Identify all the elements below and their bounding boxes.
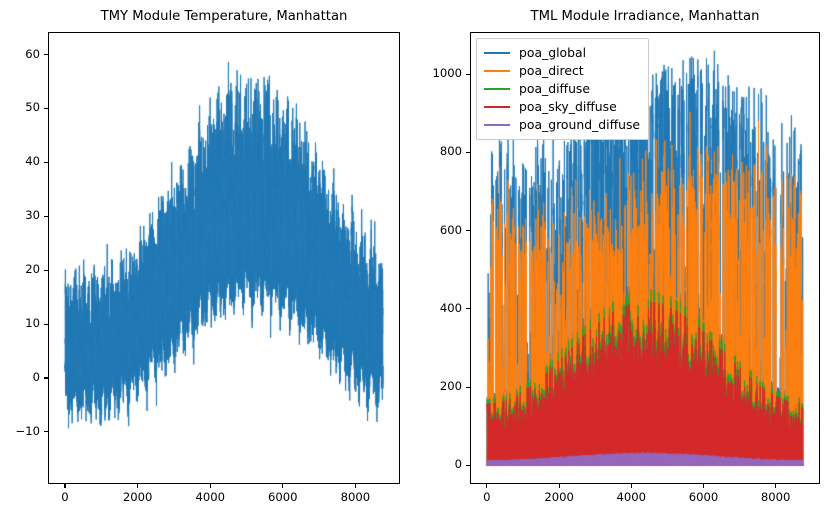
legend-label-poa-global: poa_global — [519, 44, 586, 62]
temperature-ytick-mark — [44, 216, 48, 217]
temperature-ytick-label: −10 — [0, 424, 40, 438]
irradiance-ytick-mark — [466, 308, 470, 309]
irradiance-ytick-mark — [466, 230, 470, 231]
legend-label-poa-ground-diffuse: poa_ground_diffuse — [519, 116, 640, 134]
temperature-ytick-label: 40 — [0, 154, 40, 168]
legend-swatch-poa-sky-diffuse — [484, 106, 510, 108]
legend-swatch-poa-diffuse — [484, 88, 510, 90]
irradiance-xtick-label: 8000 — [746, 490, 806, 504]
temperature-ytick-mark — [44, 377, 48, 378]
legend-label-poa-diffuse: poa_diffuse — [519, 80, 590, 98]
irradiance-ytick-label: 200 — [418, 379, 462, 393]
temperature-plot-area — [49, 33, 399, 483]
temperature-ytick-label: 20 — [0, 262, 40, 276]
irradiance-xtick-mark — [559, 484, 560, 488]
irradiance-xtick-mark — [486, 484, 487, 488]
temperature-ytick-mark — [44, 162, 48, 163]
temperature-xtick-mark — [137, 484, 138, 488]
temperature-ytick-mark — [44, 108, 48, 109]
irradiance-xtick-label: 0 — [457, 490, 517, 504]
legend-swatch-poa-direct — [484, 70, 510, 72]
temperature-ytick-mark — [44, 54, 48, 55]
legend-swatch-poa-ground-diffuse — [484, 124, 510, 126]
right-plot-title: TML Module Irradiance, Manhattan — [470, 9, 820, 24]
irradiance-legend[interactable]: poa_global poa_direct poa_diffuse poa_sk… — [476, 38, 649, 140]
temperature-ytick-mark — [44, 270, 48, 271]
temperature-ytick-label: 30 — [0, 208, 40, 222]
temperature-xtick-mark — [355, 484, 356, 488]
temperature-xtick-label: 6000 — [253, 490, 313, 504]
temperature-xtick-mark — [210, 484, 211, 488]
legend-label-poa-direct: poa_direct — [519, 62, 584, 80]
irradiance-ytick-mark — [466, 387, 470, 388]
temperature-ytick-label: 60 — [0, 47, 40, 61]
irradiance-ytick-label: 400 — [418, 301, 462, 315]
irradiance-ytick-mark — [466, 74, 470, 75]
irradiance-xtick-mark — [775, 484, 776, 488]
legend-item-poa-global[interactable]: poa_global — [484, 44, 640, 62]
irradiance-xtick-mark — [703, 484, 704, 488]
matplotlib-figure: TMY Module Temperature, Manhattan TML Mo… — [0, 0, 833, 528]
temperature-ytick-label: 50 — [0, 100, 40, 114]
temperature-axes — [48, 32, 400, 484]
left-plot-title: TMY Module Temperature, Manhattan — [48, 9, 400, 24]
irradiance-xtick-label: 2000 — [529, 490, 589, 504]
legend-item-poa-sky-diffuse[interactable]: poa_sky_diffuse — [484, 98, 640, 116]
temperature-xtick-label: 0 — [35, 490, 95, 504]
irradiance-ytick-label: 1000 — [418, 66, 462, 80]
legend-item-poa-ground-diffuse[interactable]: poa_ground_diffuse — [484, 116, 640, 134]
legend-swatch-poa-global — [484, 52, 510, 54]
irradiance-ytick-label: 600 — [418, 223, 462, 237]
temperature-xtick-label: 4000 — [180, 490, 240, 504]
temperature-ytick-mark — [44, 324, 48, 325]
temperature-xtick-label: 2000 — [108, 490, 168, 504]
temperature-ytick-mark — [44, 431, 48, 432]
legend-item-poa-direct[interactable]: poa_direct — [484, 62, 640, 80]
legend-item-poa-diffuse[interactable]: poa_diffuse — [484, 80, 640, 98]
irradiance-ytick-label: 0 — [418, 457, 462, 471]
temperature-xtick-mark — [64, 484, 65, 488]
temperature-ytick-label: 0 — [0, 370, 40, 384]
irradiance-ytick-label: 800 — [418, 144, 462, 158]
temperature-xtick-mark — [282, 484, 283, 488]
temperature-xtick-label: 8000 — [325, 490, 385, 504]
irradiance-xtick-mark — [631, 484, 632, 488]
irradiance-xtick-label: 6000 — [673, 490, 733, 504]
irradiance-ytick-mark — [466, 152, 470, 153]
irradiance-xtick-label: 4000 — [601, 490, 661, 504]
legend-label-poa-sky-diffuse: poa_sky_diffuse — [519, 98, 617, 116]
irradiance-ytick-mark — [466, 465, 470, 466]
temperature-ytick-label: 10 — [0, 316, 40, 330]
